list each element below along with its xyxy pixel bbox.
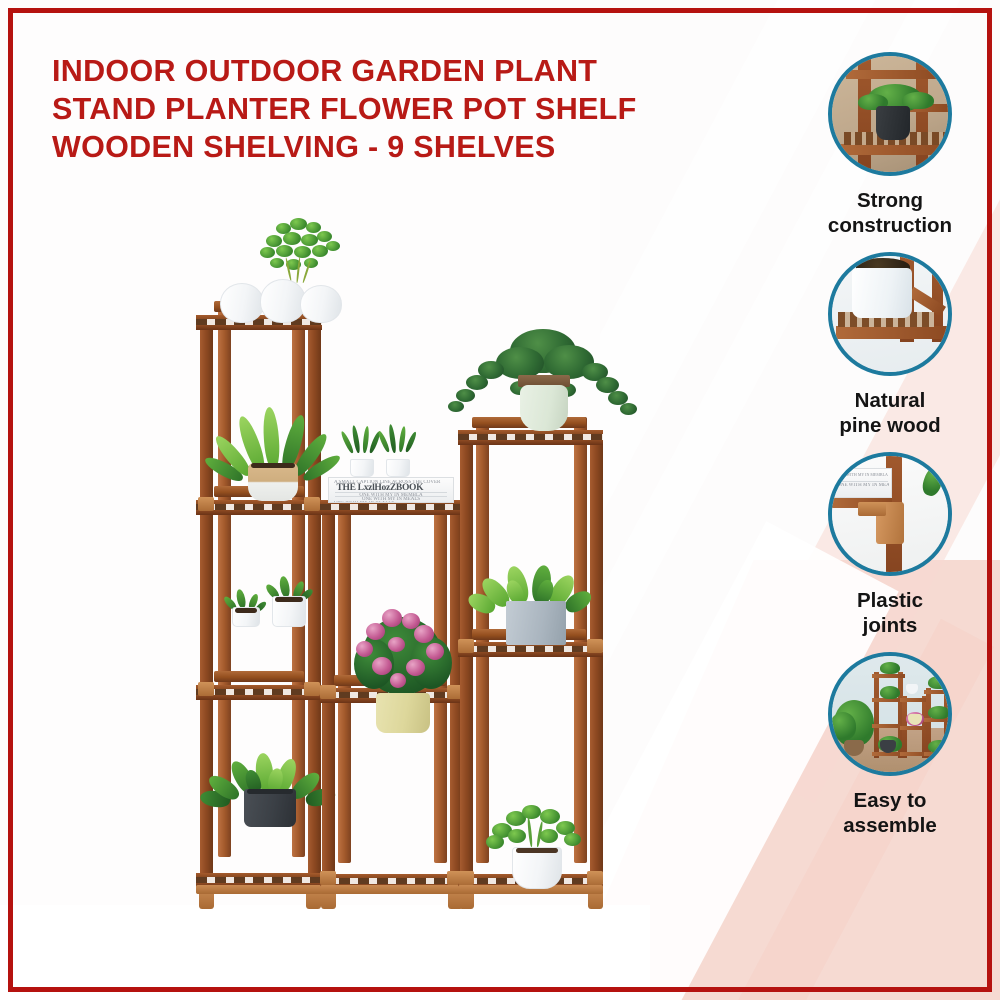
post-right-left-front [460,430,473,890]
pink-bloom [372,657,392,675]
grass-plant-left [346,425,380,461]
pink-bloom [414,625,434,643]
rail-left-rear-3 [214,671,304,682]
pink-bloom [382,609,402,627]
feature-easy-to-assemble: Easy to assemble [790,652,990,838]
pot-soil [235,608,258,613]
feature-label-line-2: construction [828,214,952,237]
feature-list: Strong construction Natural [790,52,990,982]
feature-label-line-1: Strong [857,189,923,212]
white-cylinder-pot-tall [272,596,306,627]
product-listing-image: Indoor Outdoor Garden Plant Stand Plante… [0,0,1000,1000]
pink-bloom [390,673,406,688]
mini-stand-plant [880,686,900,699]
strong-construction-icon [828,52,952,176]
mini-rail [838,144,950,155]
shelf-lip [320,510,463,515]
mini-white-pot [852,268,912,318]
shelf-lip [196,325,322,330]
ivy-vine-leaf [456,389,475,402]
dark-charcoal-pot [244,789,296,827]
ivy-vine-leaf [448,401,464,412]
shelf-lip [458,440,603,445]
shelf-lip [458,652,603,657]
plastic-joints-icon: ONE WITH MY IN MEMBLA ONE WITH MY IN MEA… [828,452,952,576]
mini-stand-shelf [872,674,905,678]
book-line-b: ONE WITH MY IN MEALS [334,497,448,503]
mini-black-pot [876,106,910,140]
pilea-leaf [540,809,560,824]
mini-book: ONE WITH MY IN MEMBLA ONE WITH MY IN MEA… [834,468,892,498]
pink-bloom [426,643,444,660]
feature-label-line-2: pine wood [839,414,940,437]
page-title: Indoor Outdoor Garden Plant Stand Plante… [52,52,752,166]
leaf-disc [301,234,318,246]
leaf-disc [290,218,307,230]
mini-stand-plant [880,662,900,674]
mint-cream-urn-pot [520,385,568,431]
leaf-disc [283,232,301,245]
book-and-grass-group: A SMALL CAPTION LINE ACROSS THE COVER TH… [328,435,468,501]
feature-label-line-1: Plastic [857,589,923,612]
pot-soil [275,597,303,602]
feature-label: Easy to assemble [843,788,936,838]
pilea-white-pot-group [484,803,594,889]
feature-plastic-joints: ONE WITH MY IN MEMBLA ONE WITH MY IN MEA… [790,452,990,638]
pink-bloom [356,641,373,657]
pilea-leaf [540,829,558,843]
foot-rail [320,885,463,894]
succulent-leaf [278,576,291,598]
egg-pot-left [220,283,264,323]
feature-label-line-2: joints [863,614,918,637]
plastic-joint [304,682,320,696]
mini-stand-plant [928,676,950,689]
pilea-leaf [508,829,526,843]
egg-pot-middle [260,279,306,323]
mini-stand-shelf [900,698,929,702]
leaf-disc [260,247,275,258]
foot-rail [196,885,322,894]
mini-rail [846,70,942,79]
product-illustration: A SMALL CAPTION LINE ACROSS THE COVER TH… [196,255,666,895]
shelf-lip-top [196,873,322,877]
easy-to-assemble-icon [828,652,952,776]
pilea-leaf [564,833,581,846]
pink-bloom [366,623,385,640]
feature-label-line-1: Easy to [854,789,927,812]
ivy-vine-leaf [466,375,488,390]
mini-scene [832,256,948,372]
feature-label: Natural pine wood [839,388,940,438]
pink-bloom [388,637,405,652]
mini-stand-plant [928,740,950,753]
pale-yellow-textured-pot [376,693,430,733]
shelf-lip [196,695,322,700]
plastic-joint [198,682,214,696]
leaf-disc [326,241,340,251]
feature-strong-construction: Strong construction [790,52,990,238]
plastic-joint [198,497,214,511]
feature-label-line-2: assemble [843,814,936,837]
small-succulent-a-group [226,593,266,627]
page-title-line-3: Wooden Shelving - 9 Shelves [52,128,752,166]
mini-book-rule [838,481,888,482]
blue-grey-square-pot [506,601,566,645]
grass-blade [404,431,418,453]
book-rule [335,496,447,497]
pink-flower-bush-group [348,607,458,733]
mini-book-line: ONE WITH MY IN MEALS [837,483,889,489]
book-stack: A SMALL CAPTION LINE ACROSS THE COVER TH… [328,477,454,503]
plastic-joint [320,871,336,885]
echeveria-dark-pot-group [222,755,322,827]
mini-stand-plant [928,706,950,719]
leaf-disc [276,245,293,257]
grass-pot-right [386,459,410,477]
mini-book-line: ONE WITH MY IN MEMBLA [837,472,889,478]
feature-natural-pine-wood: Natural pine wood [790,252,990,438]
pink-bloom [406,659,425,676]
pot-soil [247,789,293,794]
shelf-lip-top [320,874,463,878]
feature-label: Plastic joints [857,588,923,638]
plastic-joint [458,639,474,653]
sand-woven-pot [248,463,298,501]
page-title-line-1: Indoor Outdoor Garden Plant [52,52,752,90]
book-line-c: ONE WITH MY IN BEALLY [334,501,448,503]
mini-rail [836,326,948,339]
background-white-bottom-strip [0,905,650,1000]
mini-plastic-tee-arm [858,502,886,516]
mini-scene [832,656,948,772]
feature-label: Strong construction [828,188,952,238]
page-title-line-2: Stand Planter Flower Pot Shelf [52,90,752,128]
grass-plant-right [382,424,416,460]
mini-floor-plant [830,712,856,740]
plastic-joint [458,871,474,885]
mini-stand-shelf [900,726,929,730]
plastic-joint [320,685,336,699]
book-rule [335,492,447,493]
trailing-ivy-group [448,355,638,433]
pot-soil [251,463,295,468]
pilea-leaf [486,835,504,849]
agave-sand-pot-group [234,403,310,501]
shelf-lip [196,510,322,515]
natural-pine-wood-icon [828,252,952,376]
white-cylinder-pot-short [232,607,260,627]
pilea-leaf [522,805,541,819]
crassula-gray-pot-group [484,565,594,645]
top-egg-pots-group [220,275,350,323]
ivy-vine-leaf [620,403,637,415]
small-succulent-b-group [268,579,312,627]
leaf-disc [270,258,284,268]
egg-pot-right [300,285,342,323]
leaf-disc [294,246,311,258]
grass-pot-left [350,459,374,477]
feature-label-line-1: Natural [855,389,926,412]
pot-soil [516,848,558,853]
mini-scene [832,56,948,172]
agave-leaf [262,407,281,470]
mini-scene: ONE WITH MY IN MEMBLA ONE WITH MY IN MEA… [832,456,948,572]
mini-stand-shelf [924,690,951,694]
white-tapered-pot [512,847,562,889]
pilea-stem [527,817,533,847]
